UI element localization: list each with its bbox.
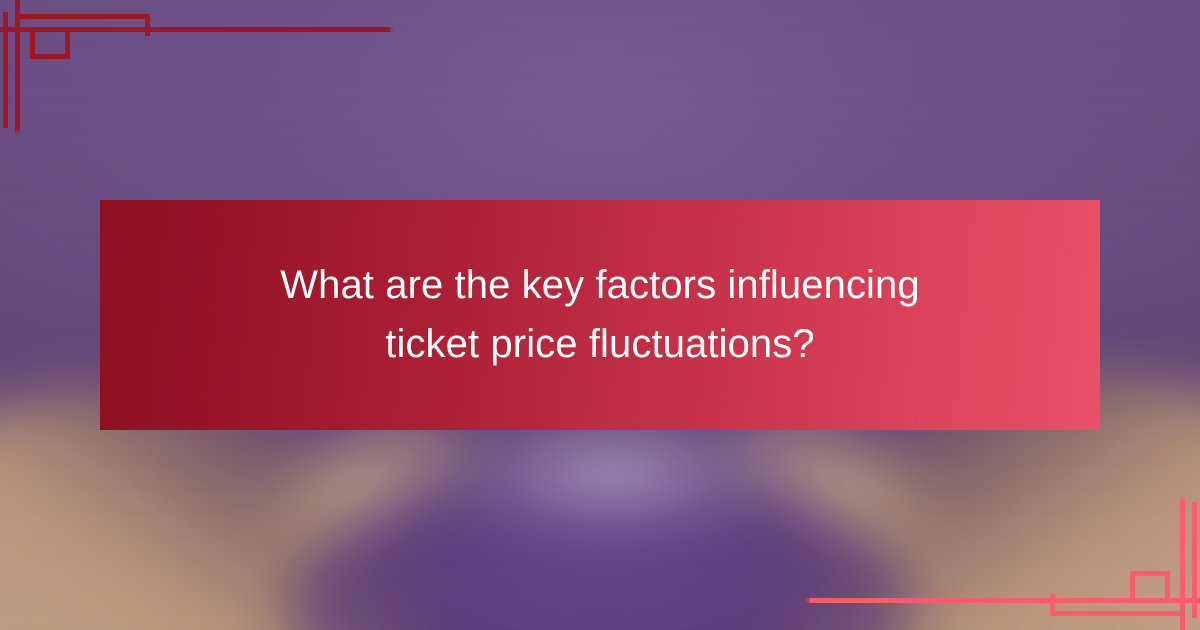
ornament-line-vertical-stub xyxy=(145,14,150,36)
ornament-line-vertical-inner-taper xyxy=(1180,492,1185,506)
ornament-line-horizontal-short xyxy=(1050,611,1185,616)
question-banner: What are the key factors influencing tic… xyxy=(100,200,1100,430)
ornament-line-vertical-stub xyxy=(1050,594,1055,616)
question-text: What are the key factors influencing tic… xyxy=(240,256,960,374)
ornament-line-horizontal-short xyxy=(15,14,150,19)
ornament-line-horizontal-long-taper xyxy=(805,598,815,603)
corner-ornament-bottom-right-icon xyxy=(780,480,1200,630)
ornament-line-vertical-inner-taper xyxy=(15,124,20,138)
ornament-square-outline xyxy=(30,27,70,59)
question-card: What are the key factors influencing tic… xyxy=(0,0,1200,630)
ornament-line-vertical-inner xyxy=(15,0,20,130)
corner-ornament-top-left-icon xyxy=(0,0,420,150)
ornament-square-outline xyxy=(1130,571,1170,603)
ornament-line-horizontal-long-taper xyxy=(385,27,395,32)
